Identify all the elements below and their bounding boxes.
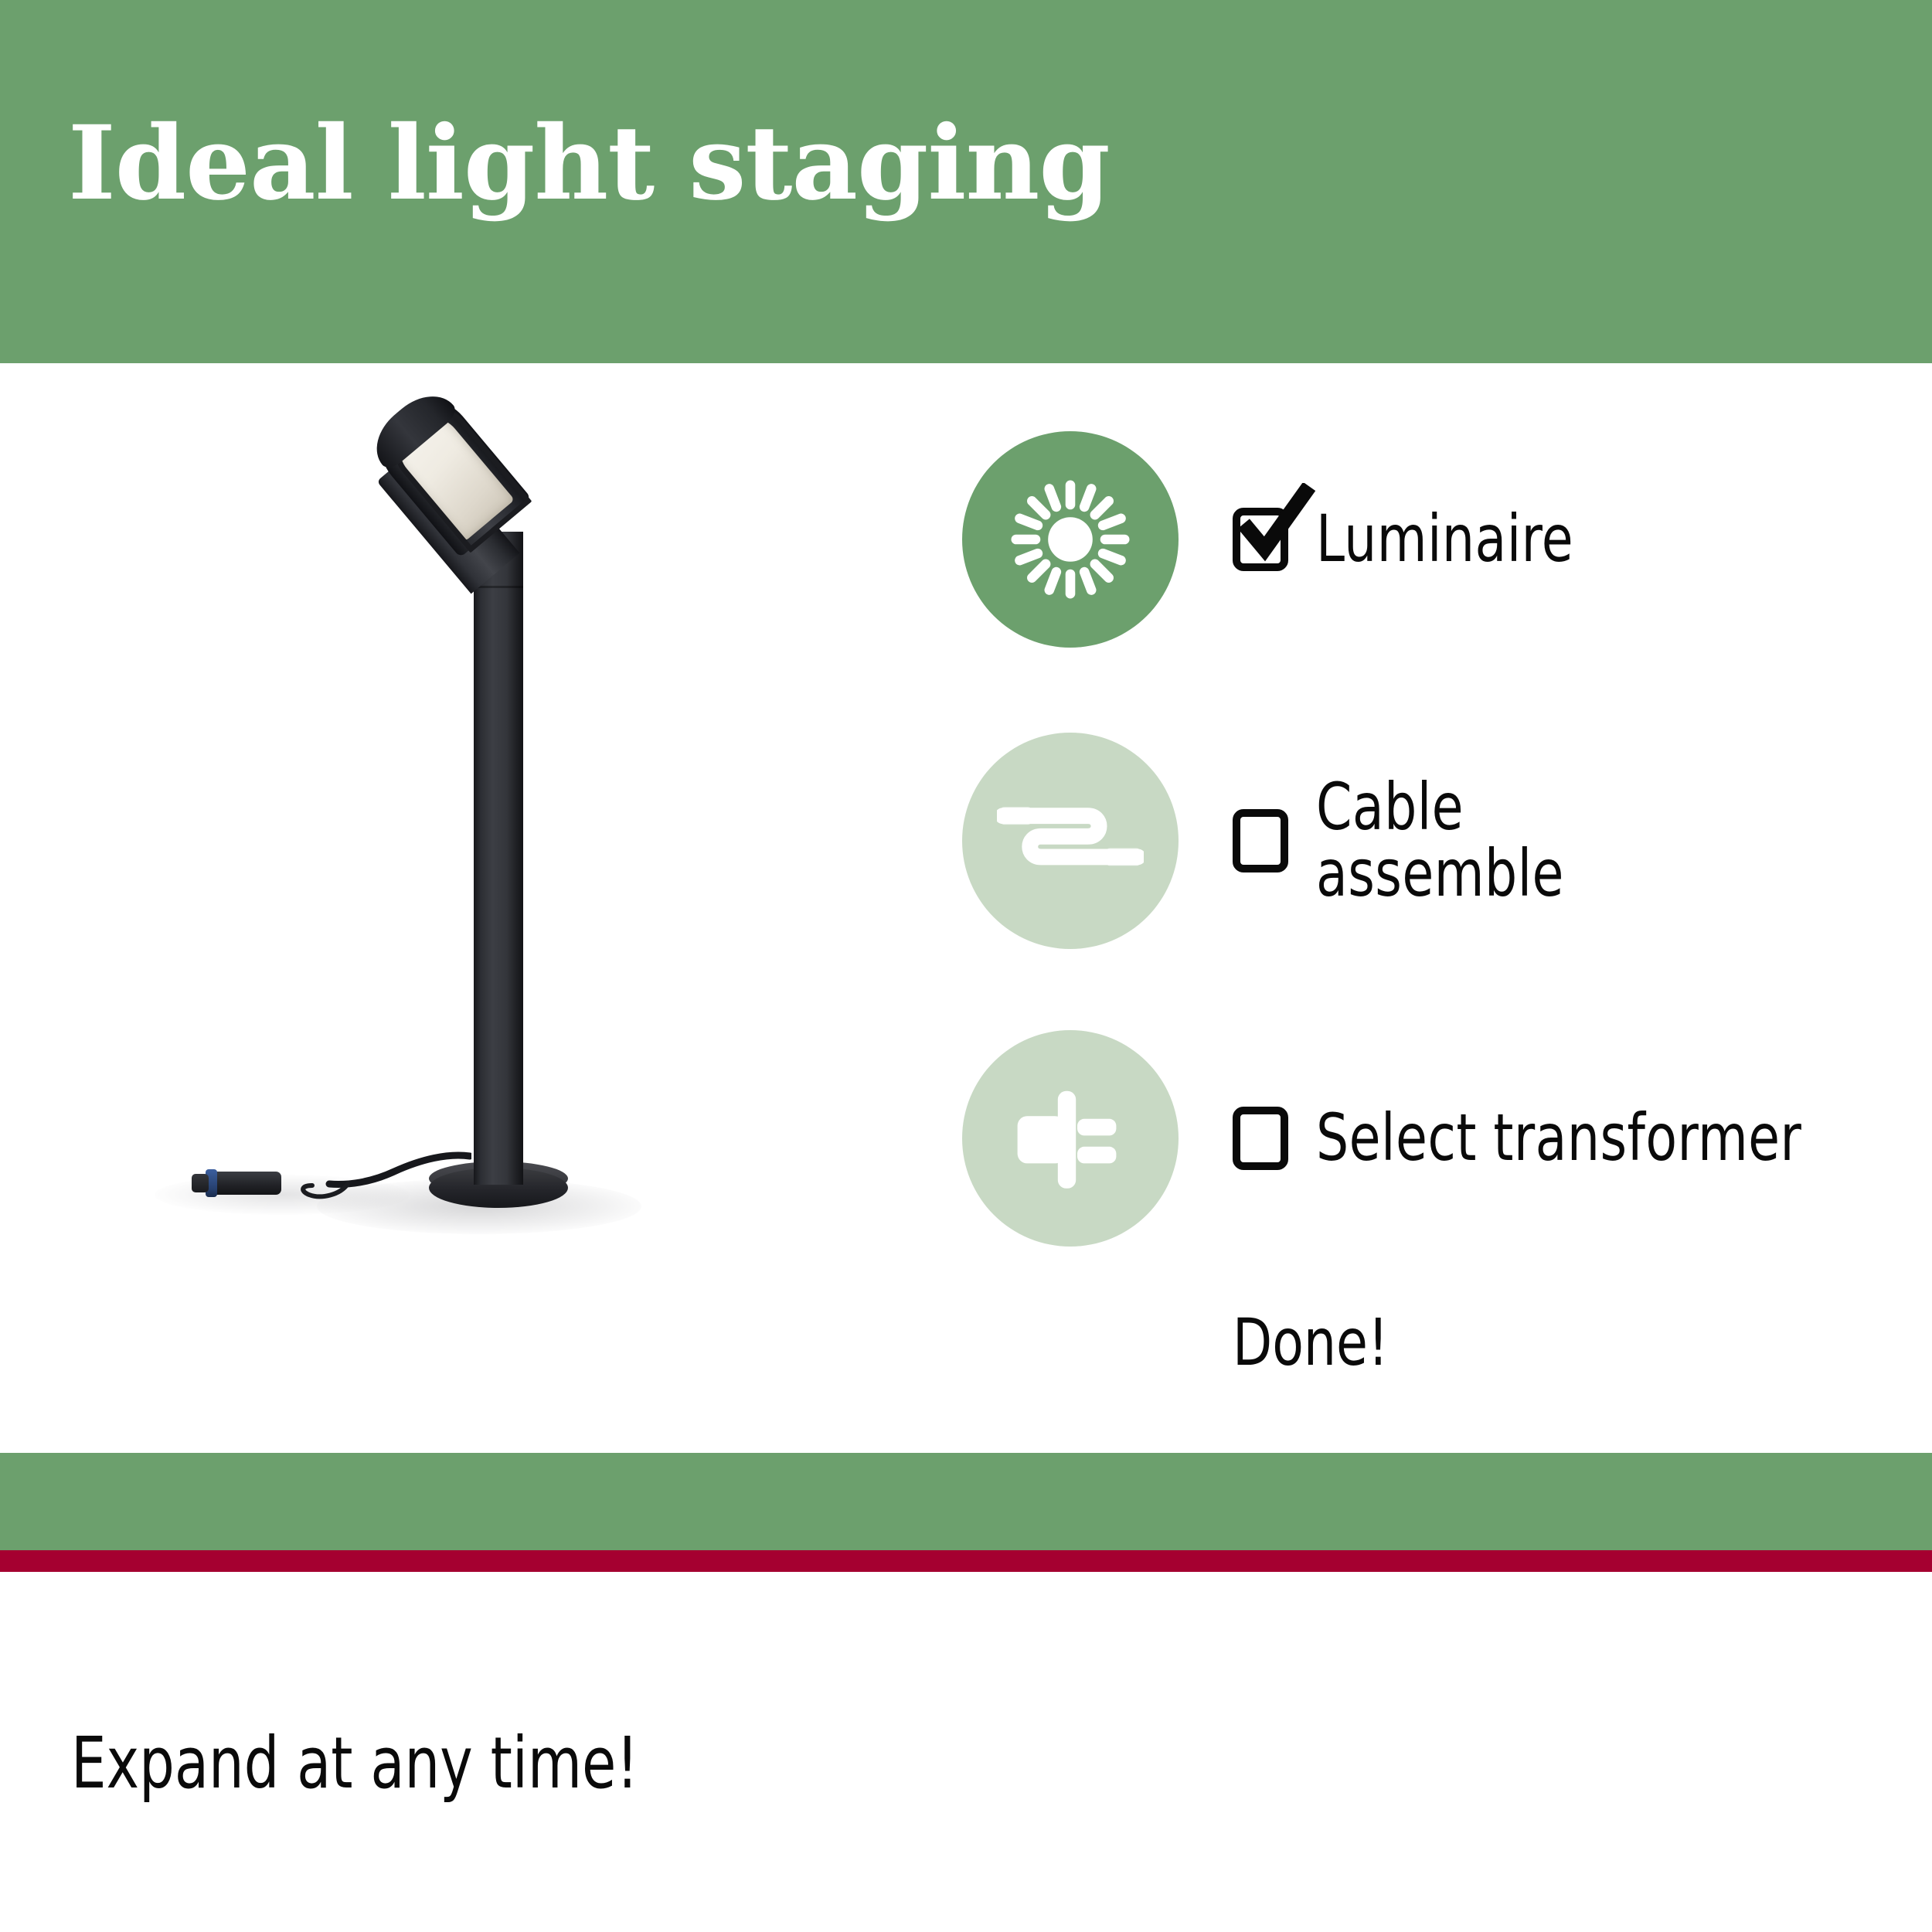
checklist-row-transformer[interactable]: Select transformer xyxy=(962,1030,1897,1247)
sun-icon xyxy=(1001,470,1140,609)
poster-root: Ideal light staging xyxy=(0,0,1932,1932)
cable-icon xyxy=(997,767,1144,914)
checklist-row-cable[interactable]: Cable assemble xyxy=(962,733,1897,949)
power-cable xyxy=(255,1151,471,1199)
checklist-label-luminaire: Luminaire xyxy=(1316,506,1573,573)
bottom-red-bar xyxy=(0,1550,1932,1572)
cable-icon-badge xyxy=(962,733,1179,949)
header-banner: Ideal light staging xyxy=(0,0,1932,363)
product-image xyxy=(139,379,835,1291)
cable-connector-tip xyxy=(192,1174,209,1192)
lamp-pole xyxy=(474,532,523,1185)
lamp-pole-seam xyxy=(474,586,523,588)
page-title: Ideal light staging xyxy=(68,113,1110,215)
sun-icon-badge xyxy=(962,431,1179,648)
footer-text: Expand at any time! xyxy=(71,1722,638,1804)
checklist-row-luminaire[interactable]: Luminaire xyxy=(962,431,1897,648)
checkmark-icon xyxy=(1236,483,1316,563)
checklist-label-transformer: Select transformer xyxy=(1316,1105,1801,1172)
bottom-green-bar xyxy=(0,1453,1932,1550)
checklist-item-cable[interactable]: Cable assemble xyxy=(1233,733,1598,949)
checkbox-cable[interactable] xyxy=(1233,809,1288,872)
plug-icon-badge xyxy=(962,1030,1179,1247)
checklist-label-cable: Cable assemble xyxy=(1316,774,1564,906)
cable-connector-body xyxy=(210,1172,281,1195)
checkbox-luminaire[interactable] xyxy=(1233,508,1288,571)
checkbox-transformer[interactable] xyxy=(1233,1107,1288,1170)
checklist-item-transformer[interactable]: Select transformer xyxy=(1233,1030,1868,1247)
done-text: Done! xyxy=(1233,1304,1389,1380)
plug-icon xyxy=(1001,1069,1140,1208)
checklist-item-luminaire[interactable]: Luminaire xyxy=(1233,431,1609,648)
